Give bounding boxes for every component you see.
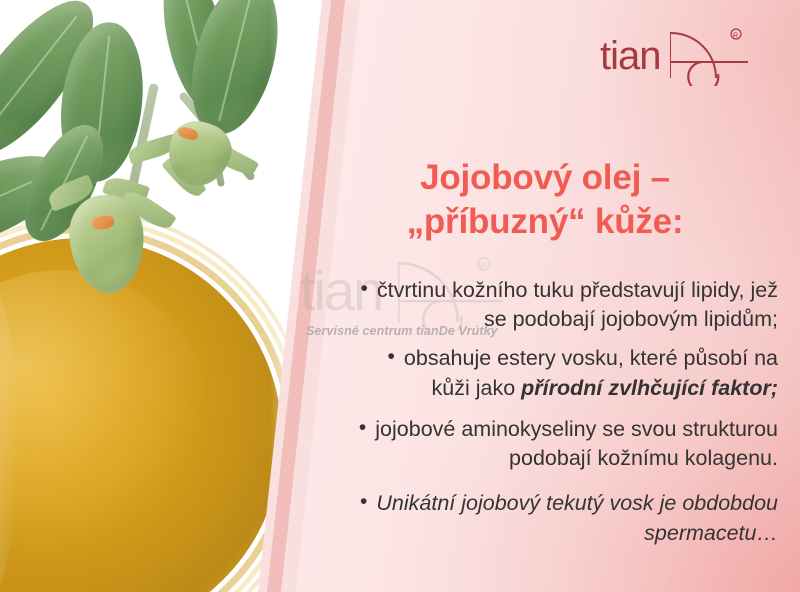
tiande-logo: tian R (598, 24, 766, 86)
bullet-marker: • (359, 416, 375, 439)
slide: tian R tian R Servisné centrum tianDe Vr… (0, 0, 800, 592)
svg-text:R: R (733, 33, 738, 40)
bullet-text-line-1: čtvrtinu kožního tuku představují lipidy… (377, 278, 778, 302)
bullet-marker: • (360, 490, 376, 513)
bullet-text-line-1: Unikátní jojobový tekutý vosk je obdobdo… (376, 491, 778, 515)
list-item: •čtvrtinu kožního tuku představují lipid… (292, 276, 782, 334)
bullet-text-line-2-plain: kůži jako (432, 376, 522, 400)
bullet-text-line-2: se podobají jojobovým lipidům; (484, 307, 778, 331)
list-item: •obsahuje estery vosku, které působí na … (292, 344, 782, 402)
list-item: •jojobové aminokyseliny se svou struktur… (292, 415, 782, 473)
title-line-1: Jojobový olej – (330, 156, 760, 200)
bullet-text-line-1: jojobové aminokyseliny se svou strukturo… (375, 417, 778, 441)
bullet-text-line-2: spermacetu… (644, 521, 778, 545)
bullet-list: •čtvrtinu kožního tuku představují lipid… (292, 276, 782, 560)
bullet-marker: • (361, 277, 377, 300)
slide-title: Jojobový olej – „příbuzný“ kůže: (330, 156, 760, 244)
title-line-2: „příbuzný“ kůže: (330, 200, 760, 244)
bullet-text-line-2: podobají kožnímu kolagenu. (509, 446, 778, 470)
bullet-text-emphasis: přírodní zvlhčující faktor; (521, 376, 778, 400)
bullet-text-line-1: obsahuje estery vosku, které působí na (404, 346, 778, 370)
list-item: •Unikátní jojobový tekutý vosk je obdobd… (292, 489, 782, 547)
bullet-marker: • (388, 345, 404, 368)
svg-text:tian: tian (600, 34, 661, 78)
